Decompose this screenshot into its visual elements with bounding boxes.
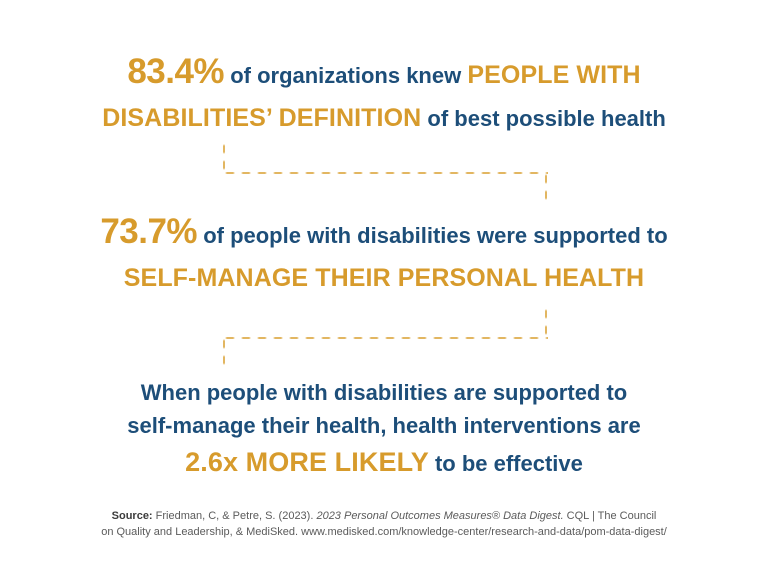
citation-publisher-part2: on Quality and Leadership, & MediSked.: [101, 526, 301, 538]
stat2-line1-navy-text: of people with disabilities were support…: [203, 223, 668, 248]
divider-1-left-vertical: [222, 141, 226, 175]
stat3-line-1: When people with disabilities are suppor…: [0, 378, 768, 411]
stat-block-more-likely-effective: When people with disabilities are suppor…: [0, 378, 768, 485]
stat3-line2-navy-text: self-manage their health, health interve…: [127, 413, 640, 438]
stat3-multiplier-gold-text: 2.6x MORE LIKELY: [185, 447, 429, 477]
divider-2-right-vertical: [544, 306, 548, 340]
citation-publisher-part1: CQL | The Council: [564, 510, 657, 522]
divider-2-left-vertical: [222, 336, 226, 370]
source-citation: Source: Friedman, C, & Petre, S. (2023).…: [0, 508, 768, 540]
divider-1-horizontal: [222, 171, 548, 175]
infographic-canvas: 83.4% of organizations knew PEOPLE WITH …: [0, 0, 768, 576]
stat1-percentage: 83.4%: [127, 52, 224, 91]
citation-line-1: Source: Friedman, C, & Petre, S. (2023).…: [0, 508, 768, 524]
stat3-line-2: self-manage their health, health interve…: [0, 411, 768, 444]
stat-block-self-manage-personal-health: 73.7% of people with disabilities were s…: [0, 212, 768, 301]
citation-title: 2023 Personal Outcomes Measures® Data Di…: [316, 510, 563, 522]
citation-source-label: Source:: [112, 510, 153, 522]
stat3-line1-navy-text: When people with disabilities are suppor…: [141, 380, 628, 405]
stat-block-organizations-knew-definition: 83.4% of organizations knew PEOPLE WITH …: [0, 52, 768, 141]
stat3-line3-navy-text: to be effective: [435, 451, 583, 476]
stat1-line-2: DISABILITIES’ DEFINITION of best possibl…: [0, 99, 768, 141]
stat3-line-3: 2.6x MORE LIKELY to be effective: [0, 444, 768, 485]
divider-1-right-vertical: [544, 171, 548, 205]
citation-line-2: on Quality and Leadership, & MediSked. w…: [0, 524, 768, 540]
stat2-line2-gold-text: SELF-MANAGE THEIR PERSONAL HEALTH: [124, 264, 644, 292]
citation-url[interactable]: www.medisked.com/knowledge-center/resear…: [301, 526, 667, 538]
stat2-line-1: 73.7% of people with disabilities were s…: [0, 212, 768, 259]
stat1-line1-gold-text: PEOPLE WITH: [467, 61, 640, 89]
stat1-line2-navy-text: of best possible health: [427, 106, 665, 131]
stat2-percentage: 73.7%: [100, 212, 197, 251]
stat1-line-1: 83.4% of organizations knew PEOPLE WITH: [0, 52, 768, 99]
stat1-line1-navy-text: of organizations knew: [230, 63, 461, 88]
divider-2-horizontal: [222, 336, 548, 340]
stat1-line2-gold-text: DISABILITIES’ DEFINITION: [102, 104, 421, 132]
citation-authors-year: Friedman, C, & Petre, S. (2023).: [153, 510, 317, 522]
stat2-line-2: SELF-MANAGE THEIR PERSONAL HEALTH: [0, 259, 768, 301]
